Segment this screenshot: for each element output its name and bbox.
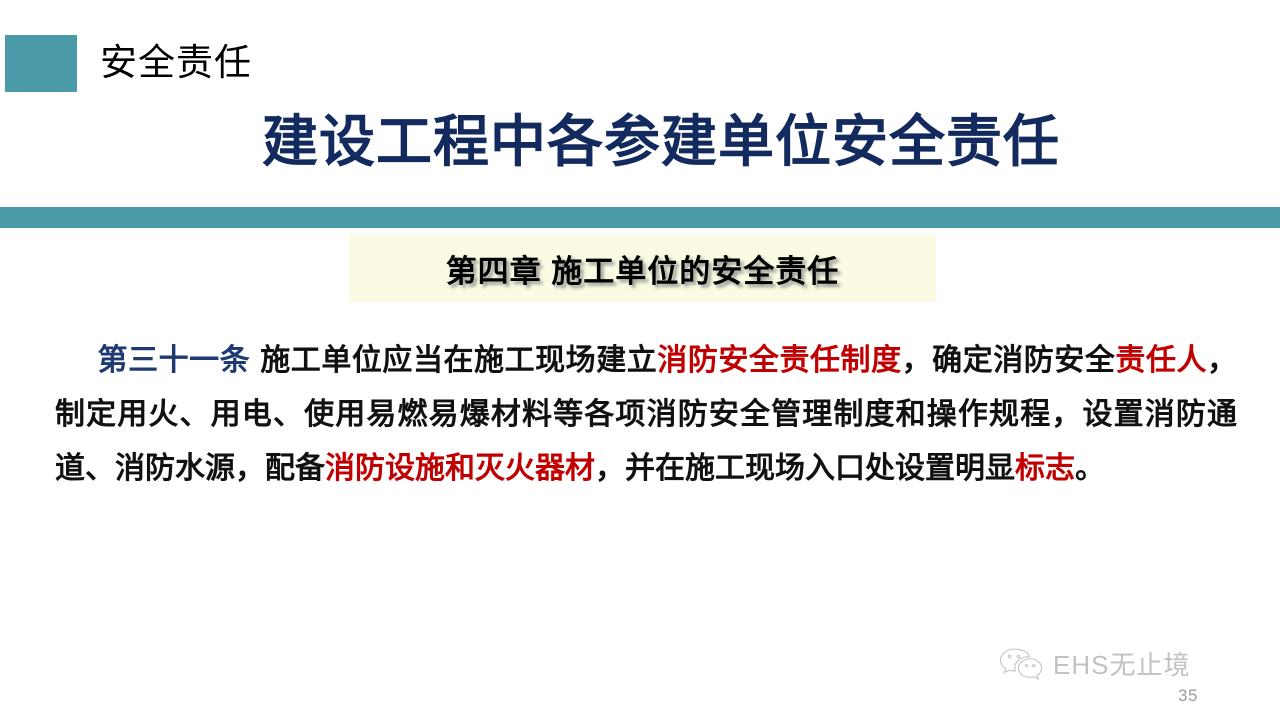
wechat-icon [998, 647, 1044, 681]
article-body: 第三十一条施工单位应当在施工现场建立消防安全责任制度，确定消防安全责任人，制定用… [55, 334, 1237, 496]
text-run: ，确定消防安全 [902, 344, 1116, 377]
slide-canvas: 安全责任 建设工程中各参建单位安全责任 第四章 施工单位的安全责任 第三十一条施… [0, 0, 1280, 720]
watermark-label: EHS无止境 [1053, 645, 1190, 682]
text-run: 。 [1075, 452, 1105, 485]
article-number: 第三十一条 [97, 344, 250, 377]
chapter-heading: 第四章 施工单位的安全责任 [446, 246, 840, 291]
page-number: 35 [1178, 686, 1198, 706]
watermark: EHS无止境 [998, 645, 1190, 682]
highlight-run: 消防安全责任制度 [657, 344, 901, 377]
highlight-run: 消防设施和灭火器材 [325, 452, 595, 485]
text-run: 施工单位应当在施工现场建立 [260, 344, 657, 377]
slide-header: 安全责任 建设工程中各参建单位安全责任 [0, 0, 1280, 207]
slide-kicker: 安全责任 [100, 36, 252, 90]
highlight-run: 责任人 [1115, 344, 1207, 377]
header-divider [0, 207, 1280, 228]
page-title: 建设工程中各参建单位安全责任 [0, 108, 1280, 176]
chapter-banner: 第四章 施工单位的安全责任 [349, 234, 936, 302]
highlight-run: 标志 [1015, 452, 1075, 485]
accent-block [5, 35, 77, 92]
text-run: ，并在施工现场入口处设置明显 [595, 452, 1015, 485]
